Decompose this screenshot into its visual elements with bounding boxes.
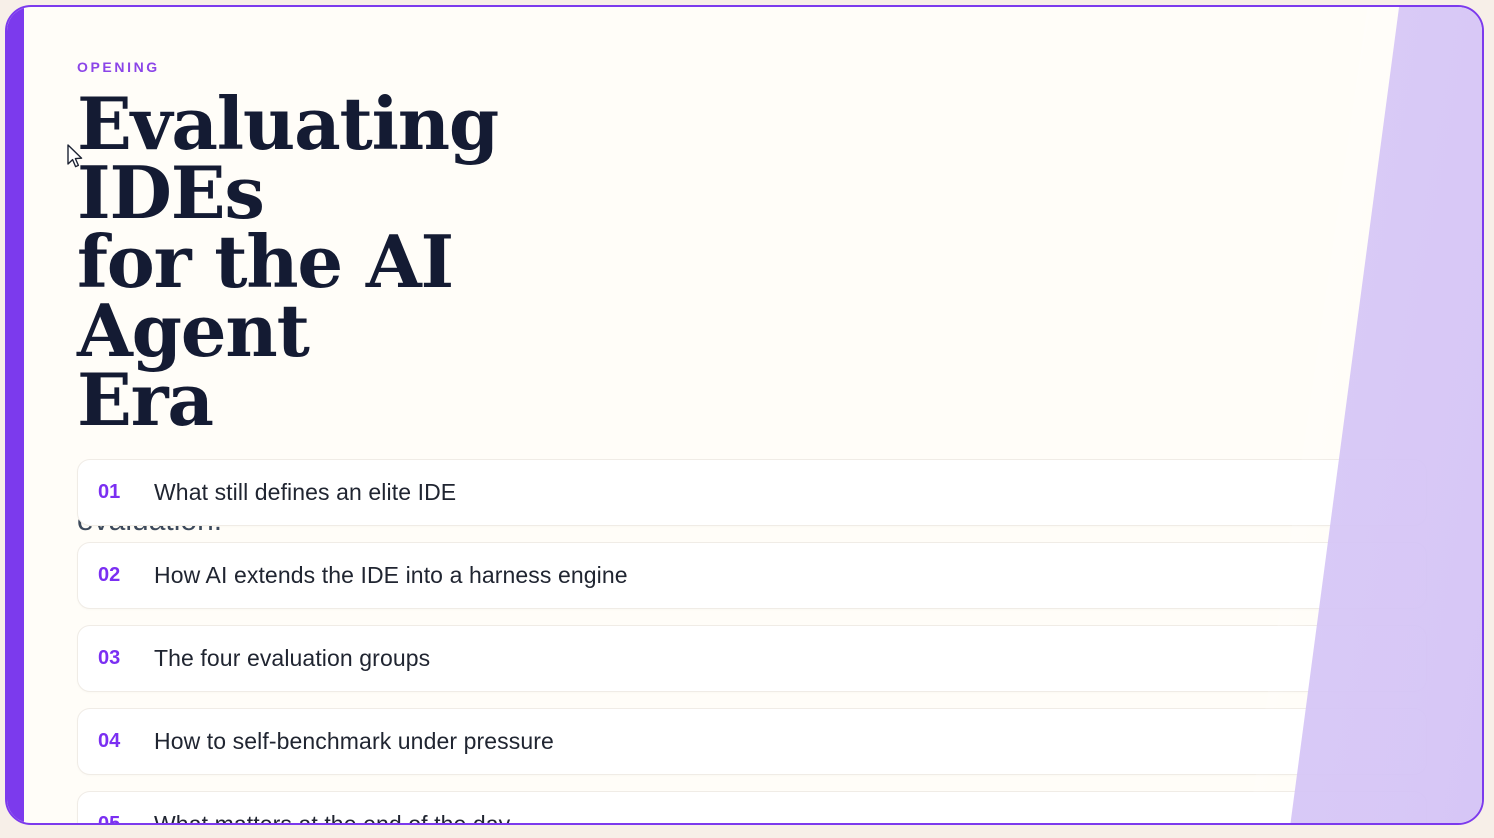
agenda-item-label: The four evaluation groups — [154, 645, 430, 672]
agenda-item-03[interactable]: 03 The four evaluation groups — [77, 625, 1427, 692]
agenda-item-01[interactable]: 01 What still defines an elite IDE — [77, 459, 1427, 526]
screen: OPENING Evaluating IDEs for the AI Agent… — [0, 0, 1494, 838]
agenda-item-04[interactable]: 04 How to self-benchmark under pressure — [77, 708, 1427, 775]
presentation-slide: OPENING Evaluating IDEs for the AI Agent… — [5, 5, 1484, 825]
page-title: Evaluating IDEs for the AI Agent Era — [77, 89, 697, 435]
agenda-item-label: How AI extends the IDE into a harness en… — [154, 562, 628, 589]
agenda-item-label: What matters at the end of the day — [154, 811, 510, 825]
section-eyebrow: OPENING — [77, 59, 1482, 75]
agenda-item-number: 02 — [98, 564, 154, 587]
agenda-item-label: How to self-benchmark under pressure — [154, 728, 554, 755]
agenda-item-number: 05 — [98, 813, 154, 825]
agenda-item-number: 01 — [98, 481, 154, 504]
page-title-line-2: for the AI Agent — [77, 227, 697, 365]
agenda-list: 01 What still defines an elite IDE 02 Ho… — [77, 459, 1427, 825]
agenda-item-number: 03 — [98, 647, 154, 670]
agenda-item-label: What still defines an elite IDE — [154, 479, 456, 506]
agenda-item-02[interactable]: 02 How AI extends the IDE into a harness… — [77, 542, 1427, 609]
left-accent-bar — [7, 7, 24, 823]
agenda-item-number: 04 — [98, 730, 154, 753]
page-title-line-1: Evaluating IDEs — [77, 89, 697, 227]
agenda-item-05[interactable]: 05 What matters at the end of the day — [77, 791, 1427, 825]
page-title-line-3: Era — [77, 365, 697, 434]
